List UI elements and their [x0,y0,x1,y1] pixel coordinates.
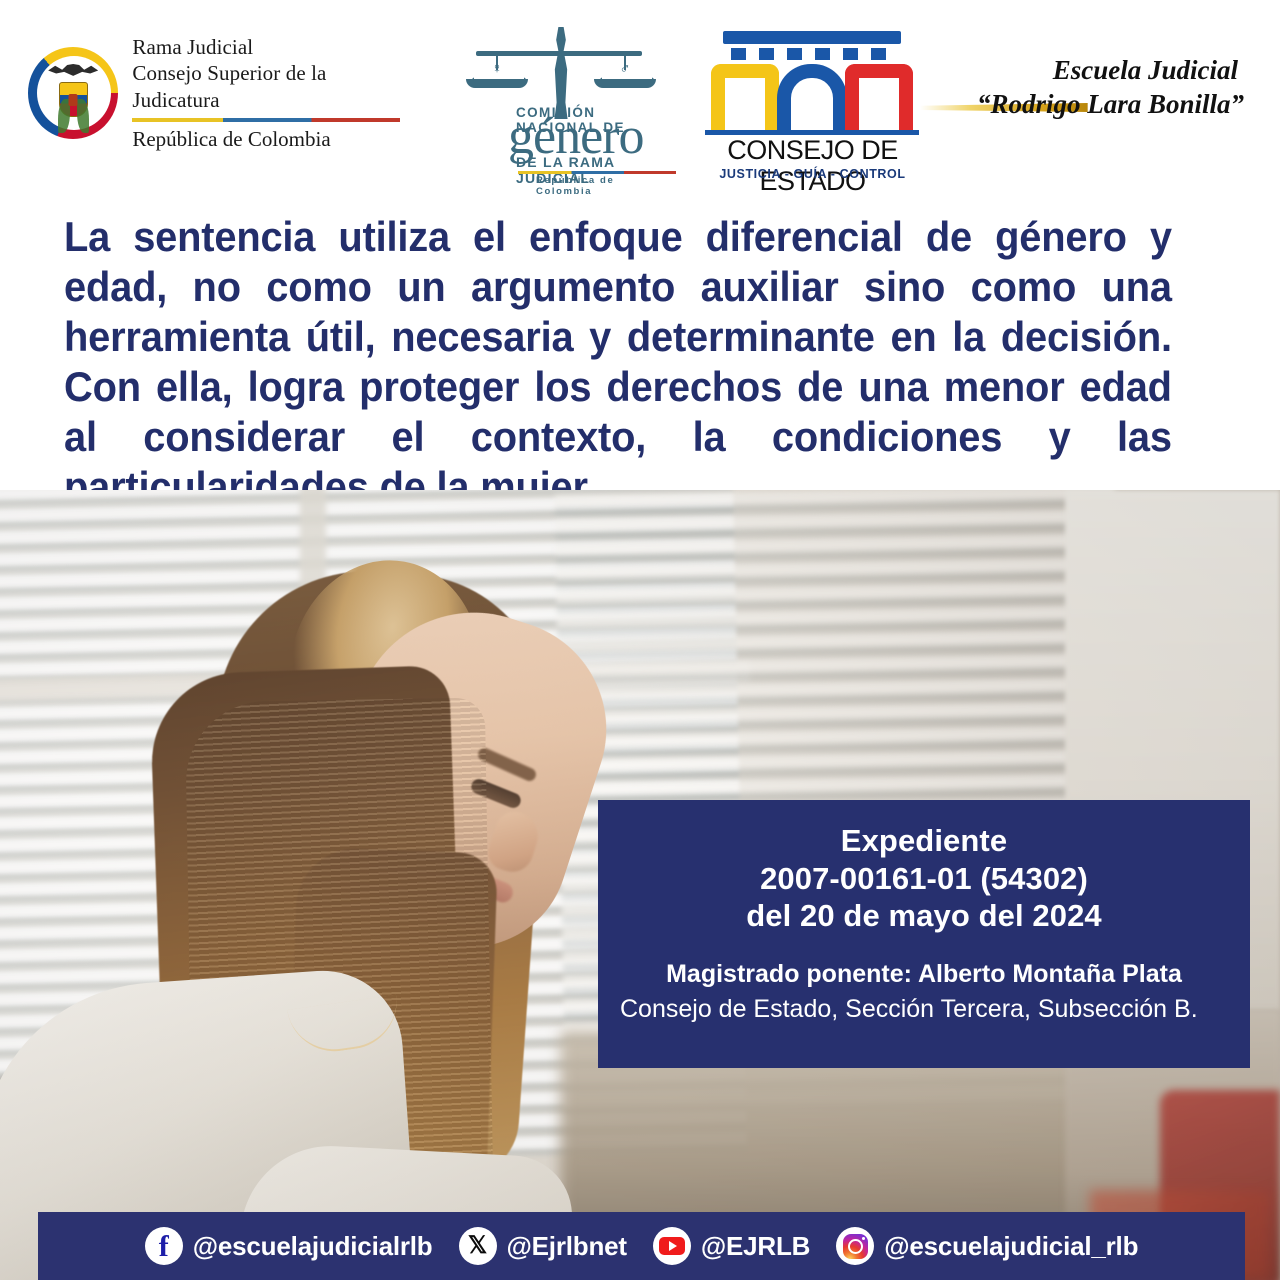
instagram-icon[interactable] [836,1227,874,1265]
female-symbol-icon: ♀ [491,61,502,76]
rama-judicial-text: Rama Judicial Consejo Superior de la Jud… [132,34,414,151]
youtube-glyph [659,1237,685,1255]
genero-bottom-text: República de Colombia [536,175,655,197]
shield-icon [59,82,88,117]
genero-tricolor-rule [518,171,676,174]
escuela-line-1: Escuela Judicial [1053,55,1238,86]
magistrado-ponente: Magistrado ponente: Alberto Montaña Plat… [620,959,1228,990]
social-footer-bar: f @escuelajudicialrlb 𝕏 @Ejrlbnet @EJRLB… [38,1212,1245,1280]
rama-line-3: República de Colombia [132,127,414,152]
colombia-coat-of-arms-icon [28,47,118,139]
male-symbol-icon: ♂ [619,61,630,76]
facebook-handle: @escuelajudicialrlb [193,1231,433,1262]
social-facebook[interactable]: f @escuelajudicialrlb [145,1227,433,1265]
scale-pan-right: ♂ [594,53,656,93]
logo-comision-genero: ♀ ♂ COMISIÓN NACIONAL DE género DE LA RA… [454,23,655,163]
case-info-box: Expediente 2007-00161-01 (54302) del 20 … [598,800,1250,1068]
building-dentils-icon [731,48,893,60]
consejo-estado-title: CONSEJO DE ESTADO [703,135,921,197]
wreath-left-icon [58,99,70,133]
scale-dish-left [466,79,528,88]
coat-of-arms-emblem [46,64,100,122]
instagram-handle: @escuelajudicial_rlb [884,1231,1138,1262]
wreath-right-icon [77,99,89,133]
instagram-glyph [843,1234,868,1259]
building-roof-icon [723,31,901,44]
poster-root: Rama Judicial Consejo Superior de la Jud… [0,0,1280,1280]
arch-blue-icon [777,64,847,130]
social-youtube[interactable]: @EJRLB [653,1227,810,1265]
logo-consejo-de-estado: CONSEJO DE ESTADO JUSTICIA - GUÍA - CONT… [701,31,919,155]
social-instagram[interactable]: @escuelajudicial_rlb [836,1227,1138,1265]
youtube-handle: @EJRLB [701,1231,810,1262]
organo-judicial: Consejo de Estado, Sección Tercera, Subs… [620,994,1228,1026]
escuela-line-2: “Rodrigo Lara Bonilla” [977,89,1244,120]
logo-strip: Rama Judicial Consejo Superior de la Jud… [0,0,1280,186]
eagle-icon [48,64,98,81]
social-x-twitter[interactable]: 𝕏 @Ejrlbnet [459,1227,627,1265]
youtube-icon[interactable] [653,1227,691,1265]
consejo-estado-tagline: JUSTICIA - GUÍA - CONTROL [703,167,921,181]
x-twitter-handle: @Ejrlbnet [507,1231,627,1262]
expediente-title: Expediente 2007-00161-01 (54302) del 20 … [624,822,1224,935]
rama-line-2: Consejo Superior de la Judicatura [132,60,414,112]
headline-text: La sentencia utiliza el enfoque diferenc… [64,212,1172,512]
arch-red-icon [845,64,913,130]
logo-escuela-judicial: Escuela Judicial “Rodrigo Lara Bonilla” [920,45,1244,141]
rama-line-1: Rama Judicial [132,34,414,60]
facebook-glyph: f [159,1232,169,1262]
logo-rama-judicial: Rama Judicial Consejo Superior de la Jud… [28,34,414,151]
x-twitter-glyph: 𝕏 [468,1234,487,1258]
x-twitter-icon[interactable]: 𝕏 [459,1227,497,1265]
facebook-icon[interactable]: f [145,1227,183,1265]
scale-pan-left: ♀ [466,53,528,93]
arch-yellow-icon [711,64,779,130]
scale-dish-right [594,79,656,88]
tricolor-rule [132,118,400,122]
